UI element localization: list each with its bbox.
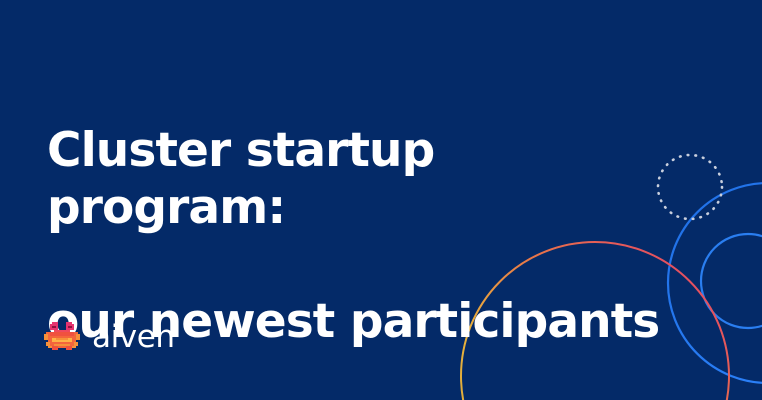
aiven-crab-icon — [44, 320, 80, 356]
aiven-promo-banner: Cluster startup program: our newest part… — [0, 0, 762, 400]
blue-circle-small-shape — [701, 234, 762, 328]
headline-line-1: Cluster startup program: — [47, 122, 687, 236]
aiven-wordmark: aiven — [92, 322, 175, 355]
aiven-logo-lockup[interactable]: aiven — [44, 320, 175, 356]
